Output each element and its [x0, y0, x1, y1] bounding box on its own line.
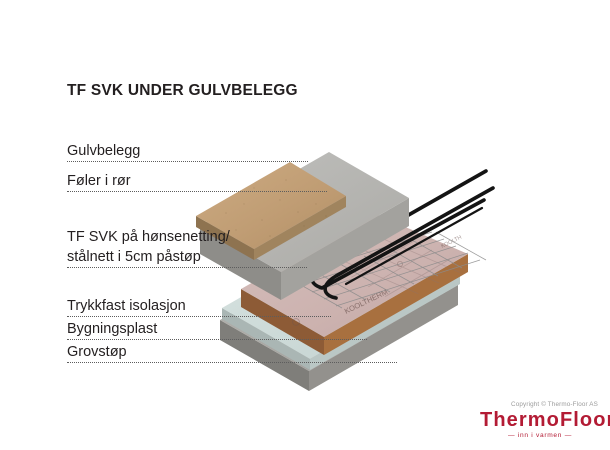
label-tf-svk-line2: stålnett i 5cm påstøp [67, 248, 201, 267]
label-tf-svk-line1: TF SVK på hønsenetting/ [67, 228, 230, 247]
floor-construction-illustration: KOOLTHERM KOOLTH [196, 108, 536, 398]
logo-wordmark: ThermoFloor [480, 409, 600, 431]
leader-tf-svk [67, 267, 307, 268]
leader-gulvbelegg [67, 161, 308, 162]
leader-bygningsplast [67, 339, 367, 340]
leader-foler-i-ror [67, 191, 327, 192]
label-grovstop: Grovstøp [67, 343, 127, 362]
label-foler-i-ror: Føler i rør [67, 172, 131, 191]
leader-grovstop [67, 362, 397, 363]
page-title: TF SVK UNDER GULVBELEGG [67, 82, 298, 100]
label-bygningsplast: Bygningsplast [67, 320, 157, 339]
thermofloor-logo: ThermoFloor — inn i varmen — [480, 409, 600, 439]
label-gulvbelegg: Gulvbelegg [67, 142, 140, 161]
copyright-text: Copyright © Thermo-Floor AS [511, 401, 598, 408]
label-trykkfast-isolasjon: Trykkfast isolasjon [67, 297, 186, 316]
illustration-page: TF SVK UNDER GULVBELEGG [0, 0, 610, 450]
logo-tagline: — inn i varmen — [480, 432, 600, 439]
leader-trykkfast-isolasjon [67, 316, 331, 317]
